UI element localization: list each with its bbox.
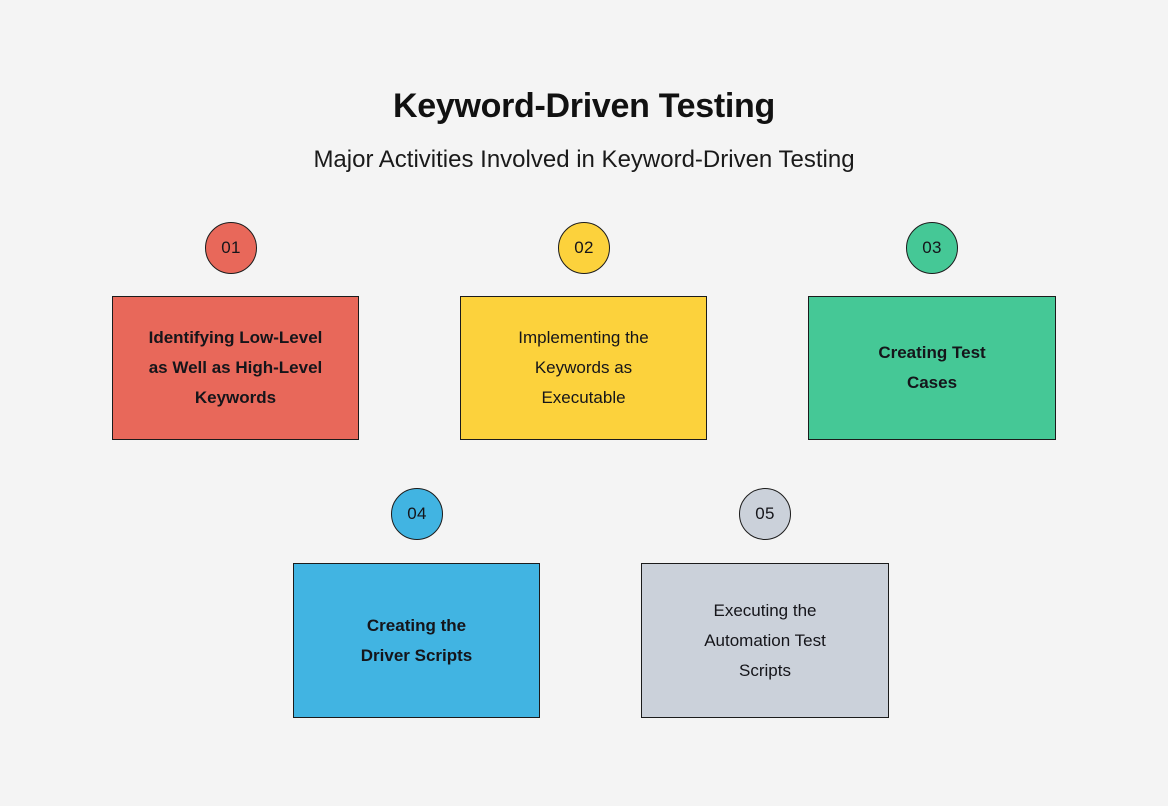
step-card-line: as Well as High-Level (149, 353, 323, 383)
step-card-label-01: Identifying Low-Levelas Well as High-Lev… (149, 323, 323, 413)
step-card-line: Implementing the (518, 323, 648, 353)
step-card-04[interactable]: Creating theDriver Scripts (293, 563, 540, 718)
step-card-line: Driver Scripts (361, 641, 473, 671)
step-badge-01[interactable]: 01 (205, 222, 257, 274)
step-card-label-03: Creating TestCases (878, 338, 985, 398)
step-badge-03[interactable]: 03 (906, 222, 958, 274)
step-card-label-04: Creating theDriver Scripts (361, 611, 473, 671)
step-card-line: Executing the (704, 596, 826, 626)
step-card-05[interactable]: Executing theAutomation TestScripts (641, 563, 889, 718)
step-card-line: Executable (518, 383, 648, 413)
step-card-03[interactable]: Creating TestCases (808, 296, 1056, 440)
step-card-line: Creating Test (878, 338, 985, 368)
step-badge-02[interactable]: 02 (558, 222, 610, 274)
diagram-canvas: Keyword-Driven Testing Major Activities … (0, 0, 1168, 806)
step-card-line: Identifying Low-Level (149, 323, 323, 353)
step-card-line: Scripts (704, 656, 826, 686)
step-card-02[interactable]: Implementing theKeywords asExecutable (460, 296, 707, 440)
step-card-label-05: Executing theAutomation TestScripts (704, 596, 826, 686)
page-title: Keyword-Driven Testing (0, 84, 1168, 128)
page-subtitle: Major Activities Involved in Keyword-Dri… (0, 143, 1168, 177)
step-badge-04[interactable]: 04 (391, 488, 443, 540)
step-card-line: Keywords as (518, 353, 648, 383)
step-card-label-02: Implementing theKeywords asExecutable (518, 323, 648, 413)
step-card-line: Automation Test (704, 626, 826, 656)
step-badge-05[interactable]: 05 (739, 488, 791, 540)
step-card-01[interactable]: Identifying Low-Levelas Well as High-Lev… (112, 296, 359, 440)
step-card-line: Cases (878, 368, 985, 398)
step-card-line: Creating the (361, 611, 473, 641)
step-card-line: Keywords (149, 383, 323, 413)
